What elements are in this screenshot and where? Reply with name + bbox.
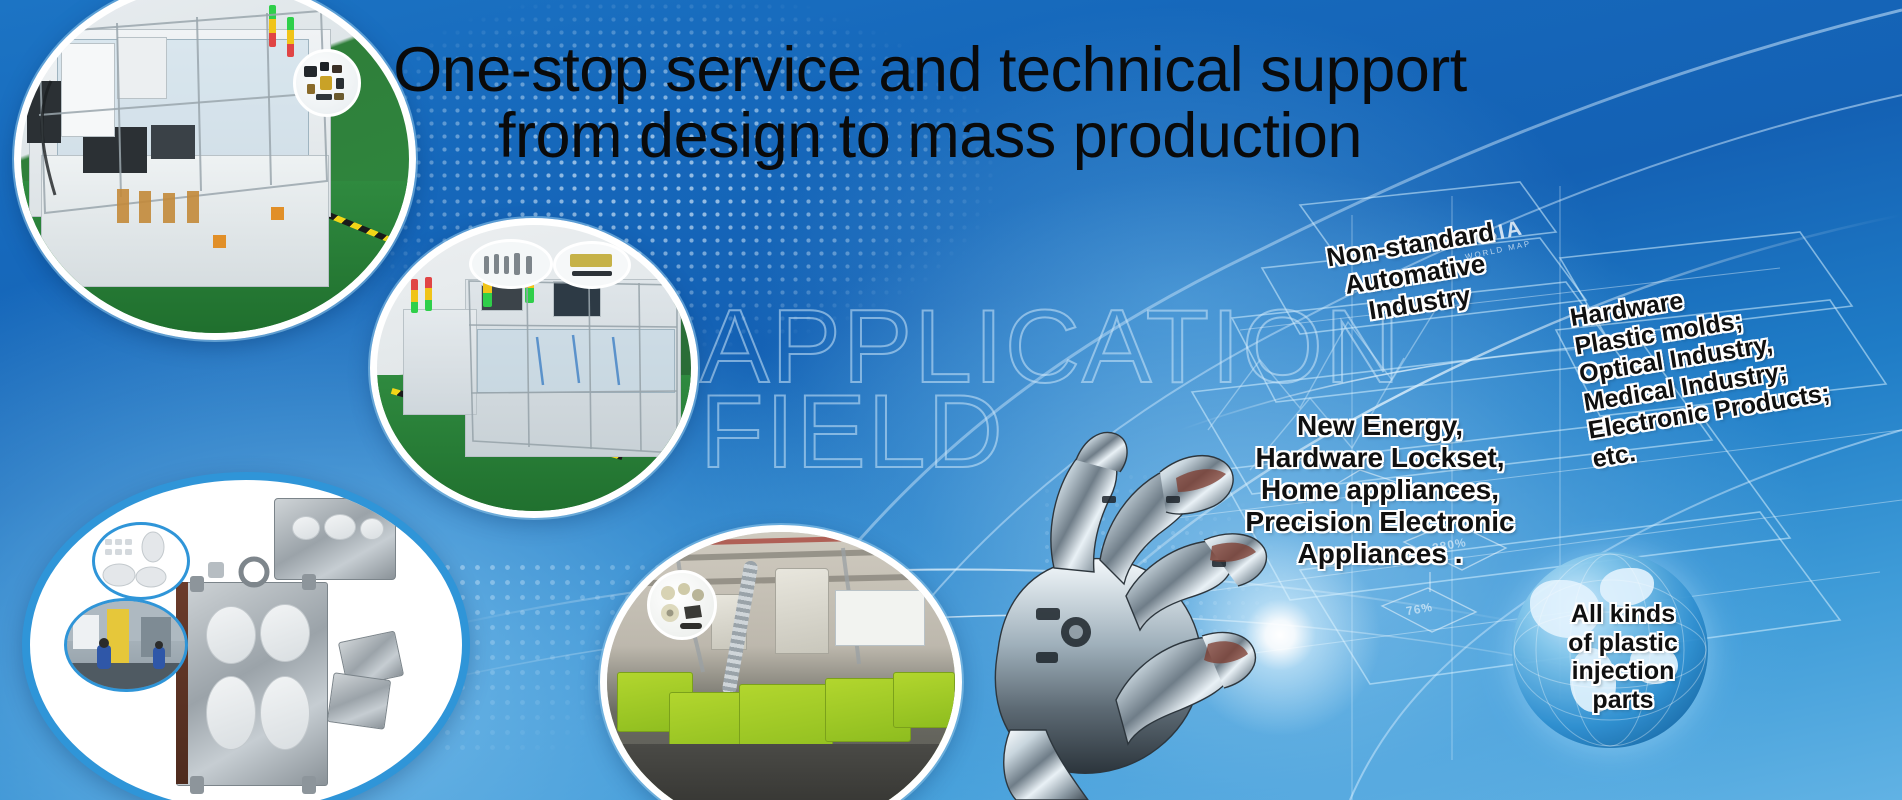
inset-factory-workers: [64, 598, 188, 692]
callout-hardware-plastic-molds: Hardware Plastic molds; Optical Industry…: [1568, 264, 1852, 474]
inset-electronic-components: [293, 49, 361, 117]
inset-toilet-seat-products: [92, 522, 190, 600]
hud-label-value2: 76%: [1405, 600, 1434, 618]
callout-new-energy-hardware-lockset: New Energy, Hardware Lockset, Home appli…: [1240, 410, 1520, 570]
inset-circuit-part: [553, 241, 631, 289]
photo-injection-molding-workshop: [600, 525, 962, 800]
application-field-banner: 280% 76% ASIA WORLD MAP APPLICATION FIEL…: [0, 0, 1902, 800]
photo-automated-assembly-line-middle: [370, 218, 698, 518]
callout-non-standard-automative-industry: Non-standard Automative Industry: [1294, 213, 1535, 337]
photo-automated-assembly-line-top: [14, 0, 416, 340]
inset-plastic-parts: [647, 570, 717, 640]
callout-all-kinds-of-plastic-injection-parts: All kinds of plastic injection parts: [1553, 600, 1693, 714]
headline-line-1: One-stop service and technical support: [390, 38, 1470, 104]
headline-line-2: from design to mass production: [390, 104, 1470, 170]
page-title: One-stop service and technical support f…: [390, 38, 1470, 169]
photo-injection-molds: [22, 472, 470, 800]
inset-precision-pins: [469, 239, 553, 289]
